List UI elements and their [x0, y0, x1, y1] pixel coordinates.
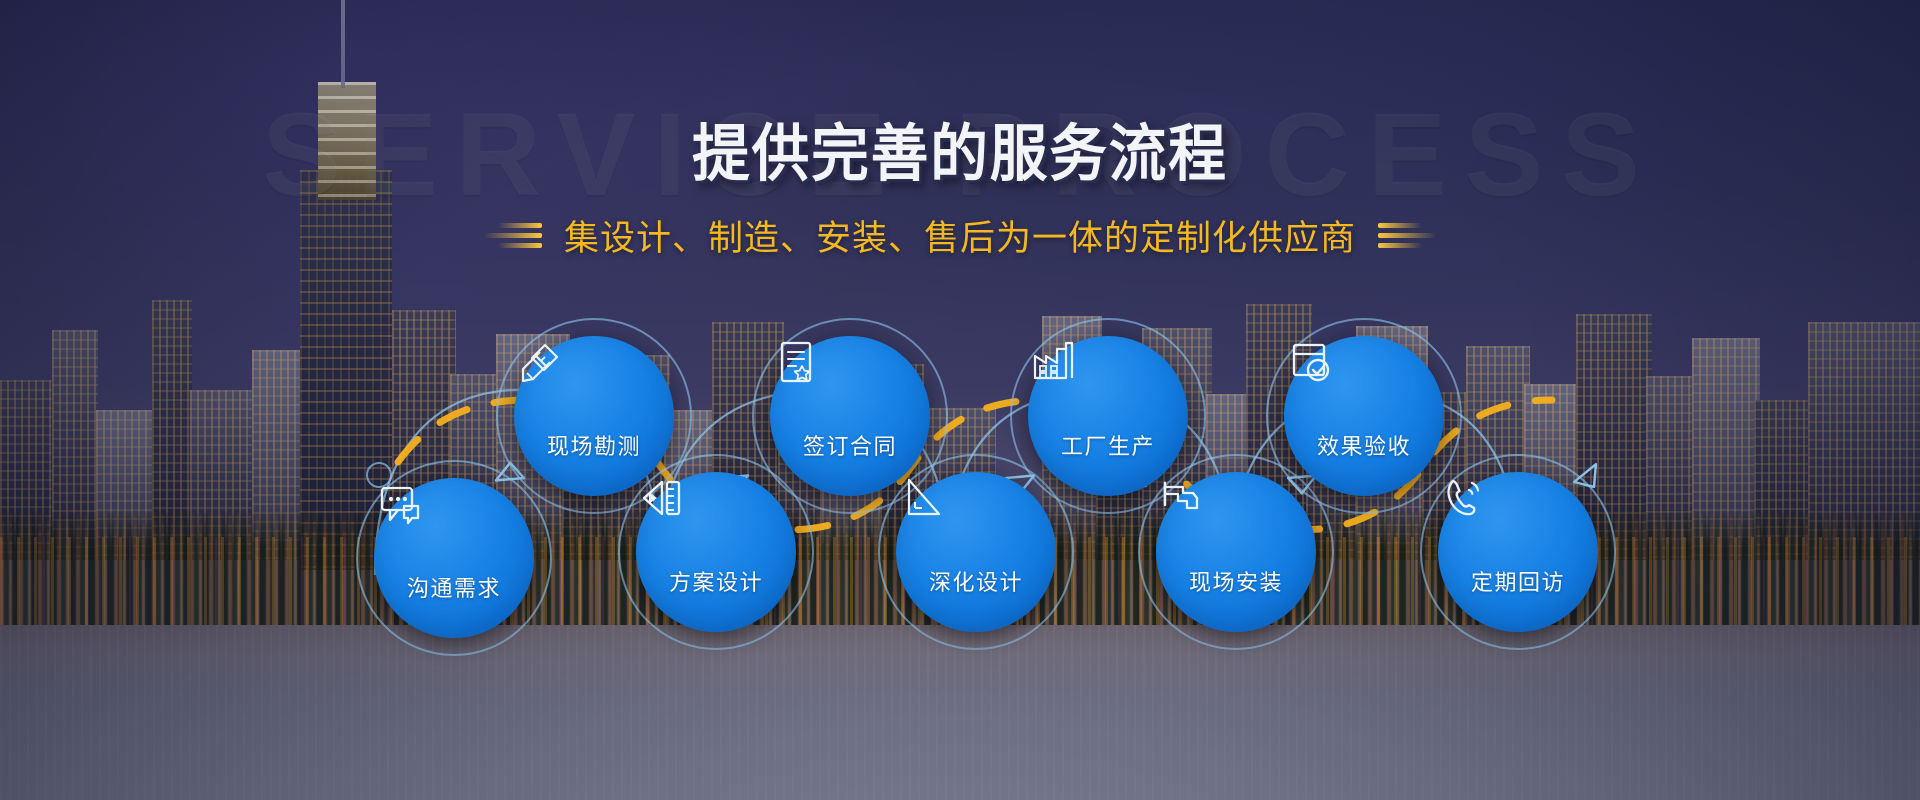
- factory-icon: [1082, 371, 1134, 423]
- chat-bubble-icon: [428, 513, 480, 565]
- phone-call-icon: [1492, 507, 1544, 559]
- contract-document-icon: [824, 371, 876, 423]
- step-label: 现场安装: [1189, 565, 1283, 597]
- step-label: 效果验收: [1317, 429, 1411, 461]
- service-process-banner: SERVICE PROCESS 提供完善的服务流程 集设计、制造、安装、售后为一…: [0, 0, 1920, 800]
- checked-window-icon: [1338, 371, 1390, 423]
- step-label: 沟通需求: [407, 571, 501, 603]
- set-square-icon: [950, 507, 1002, 559]
- power-drill-icon: [1210, 507, 1262, 559]
- pencil-ruler-icon: [568, 371, 620, 423]
- process-flow: 沟通需求 现场勘测 方案设计: [0, 0, 1920, 800]
- step-label: 深化设计: [929, 565, 1023, 597]
- step-label: 定期回访: [1471, 565, 1565, 597]
- step-disc: 定期回访: [1438, 472, 1598, 632]
- design-ruler-icon: [690, 507, 742, 559]
- process-step-9[interactable]: 定期回访: [1420, 454, 1616, 650]
- step-label: 方案设计: [669, 565, 763, 597]
- connector-paths: [0, 0, 1920, 800]
